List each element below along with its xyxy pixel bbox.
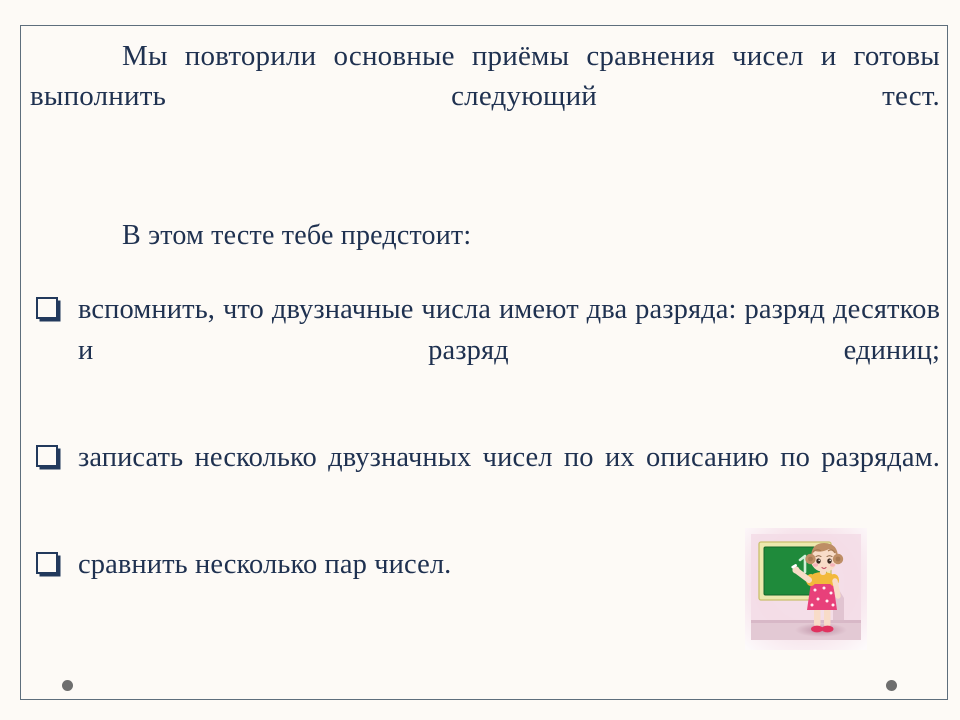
spacer-before-bullets — [30, 254, 940, 290]
spacer-after-intro — [30, 156, 940, 218]
girl-writing-on-chalkboard-image — [745, 528, 867, 650]
list-item-label: вспомнить, что двузначные числа имеют дв… — [78, 294, 940, 365]
slide-canvas: Мы повторили основные приёмы сравнения ч… — [0, 0, 960, 720]
intro-paragraph: Мы повторили основные приёмы сравнения ч… — [30, 36, 940, 156]
list-item-label: записать несколько двузначных чисел по и… — [78, 442, 940, 473]
slide-content: Мы повторили основные приёмы сравнения ч… — [30, 36, 940, 585]
hollow-square-bullet-icon — [36, 297, 58, 319]
lead-in-paragraph: В этом тесте тебе предстоит: — [30, 218, 940, 254]
decorative-dot-right — [886, 680, 897, 691]
list-item: вспомнить, что двузначные числа имеют дв… — [30, 290, 940, 411]
list-item-label: сравнить несколько пар чисел. — [78, 549, 451, 580]
hollow-square-bullet-icon — [36, 445, 58, 467]
decorative-dot-left — [62, 680, 73, 691]
list-item: записать несколько двузначных чисел по и… — [30, 438, 940, 519]
clipart-svg — [745, 528, 867, 650]
hollow-square-bullet-icon — [36, 552, 58, 574]
